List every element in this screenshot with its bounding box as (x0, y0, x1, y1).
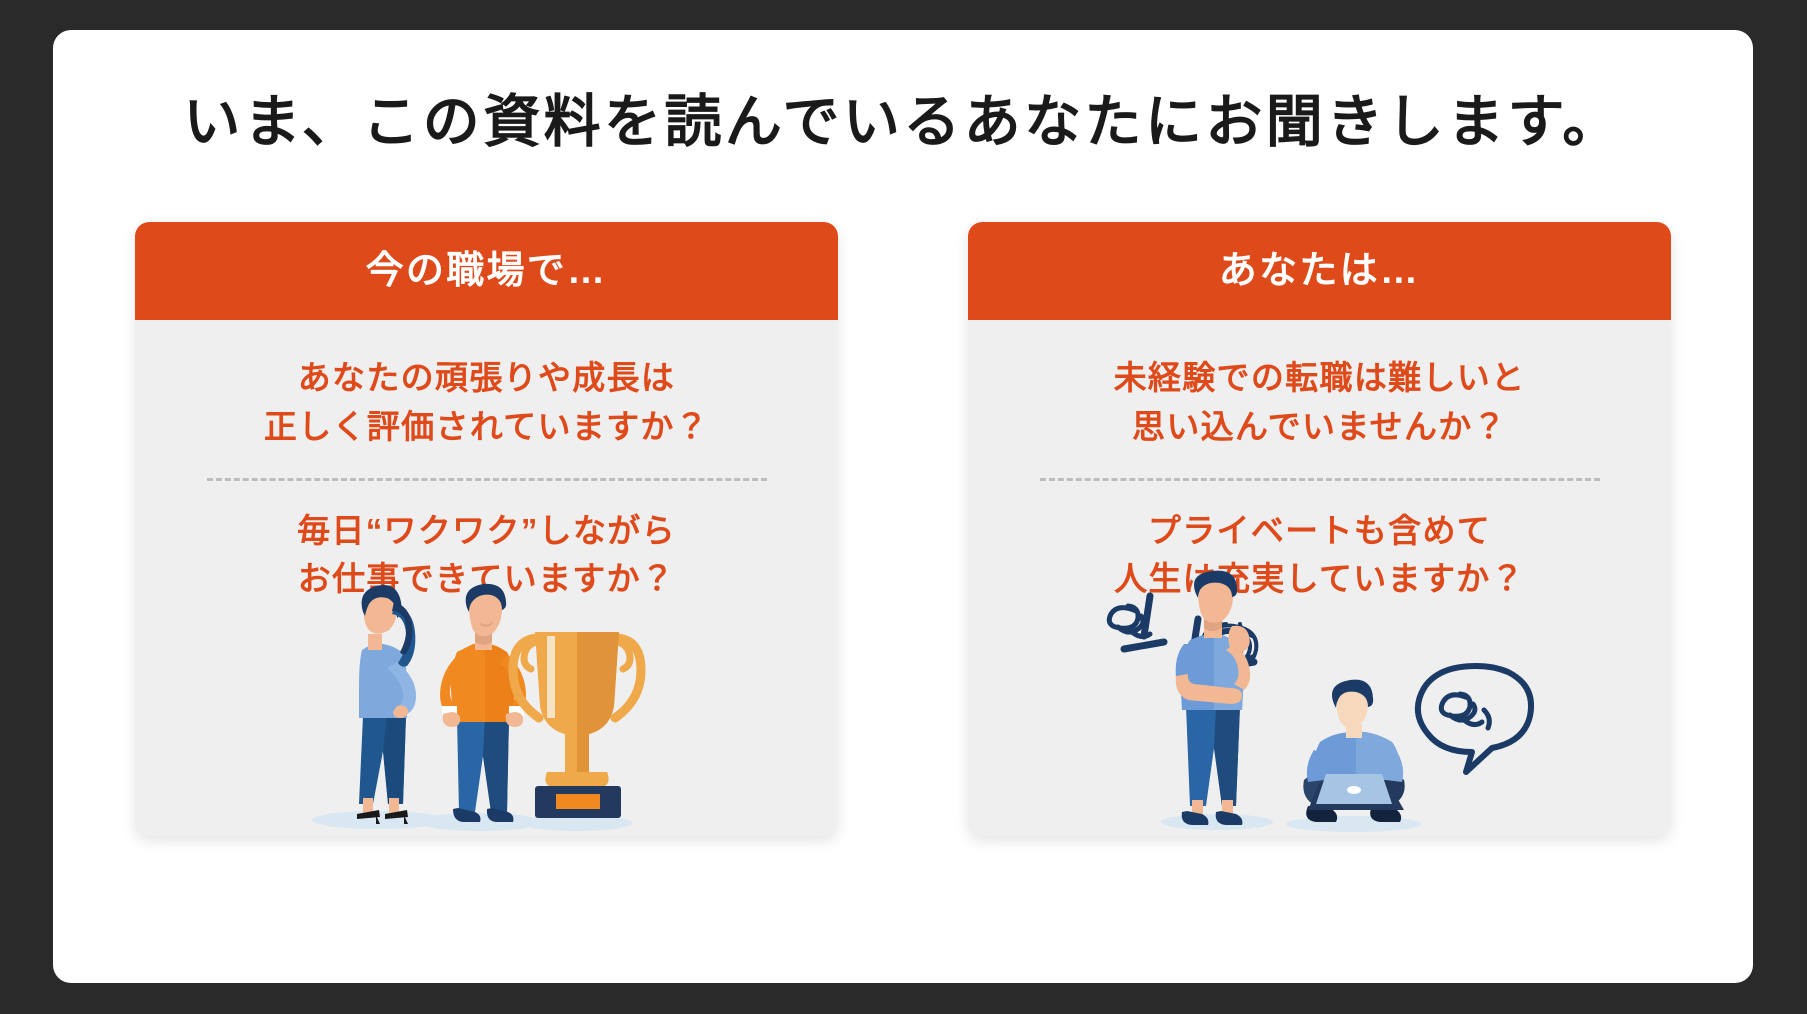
card-body-current-workplace: あなたの頑張りや成長は 正しく評価されていますか？ 毎日“ワクワク”しながら お… (135, 320, 838, 836)
question-career-change: 未経験での転職は難しいと 思い込んでいませんか？ (1114, 354, 1526, 452)
question-divider (207, 478, 767, 481)
question-evaluation: あなたの頑張りや成長は 正しく評価されていますか？ (264, 354, 709, 452)
question-card-current-workplace: 今の職場で… あなたの頑張りや成長は 正しく評価されていますか？ 毎日“ワクワク… (135, 222, 838, 836)
question-line: 毎日“ワクワク”しながら (297, 507, 676, 556)
card-header-label: 今の職場で… (366, 252, 608, 290)
thinking-people-illustration (968, 566, 1671, 836)
slide-root: いま、この資料を読んでいるあなたにお聞きします。 今の職場で… あなたの頑張りや… (0, 0, 1807, 1014)
slide-panel: いま、この資料を読んでいるあなたにお聞きします。 今の職場で… あなたの頑張りや… (53, 30, 1753, 983)
page-title: いま、この資料を読んでいるあなたにお聞きします。 (53, 88, 1753, 156)
question-line: 思い込んでいませんか？ (1114, 403, 1526, 452)
question-line: 未経験での転職は難しいと (1114, 354, 1526, 403)
card-header-label: あなたは… (1219, 252, 1420, 290)
two-people-with-trophy-illustration (135, 566, 838, 836)
question-divider (1040, 478, 1600, 481)
card-header-about-you: あなたは… (968, 222, 1671, 320)
question-line: 正しく評価されていますか？ (264, 403, 709, 452)
question-card-about-you: あなたは… 未経験での転職は難しいと 思い込んでいませんか？ プライベートも含め… (968, 222, 1671, 836)
question-line: あなたの頑張りや成長は (264, 354, 709, 403)
question-line: プライベートも含めて (1114, 507, 1525, 556)
card-body-about-you: 未経験での転職は難しいと 思い込んでいませんか？ プライベートも含めて 人生は充… (968, 320, 1671, 836)
question-cards-row: 今の職場で… あなたの頑張りや成長は 正しく評価されていますか？ 毎日“ワクワク… (135, 222, 1671, 836)
card-header-current-workplace: 今の職場で… (135, 222, 838, 320)
